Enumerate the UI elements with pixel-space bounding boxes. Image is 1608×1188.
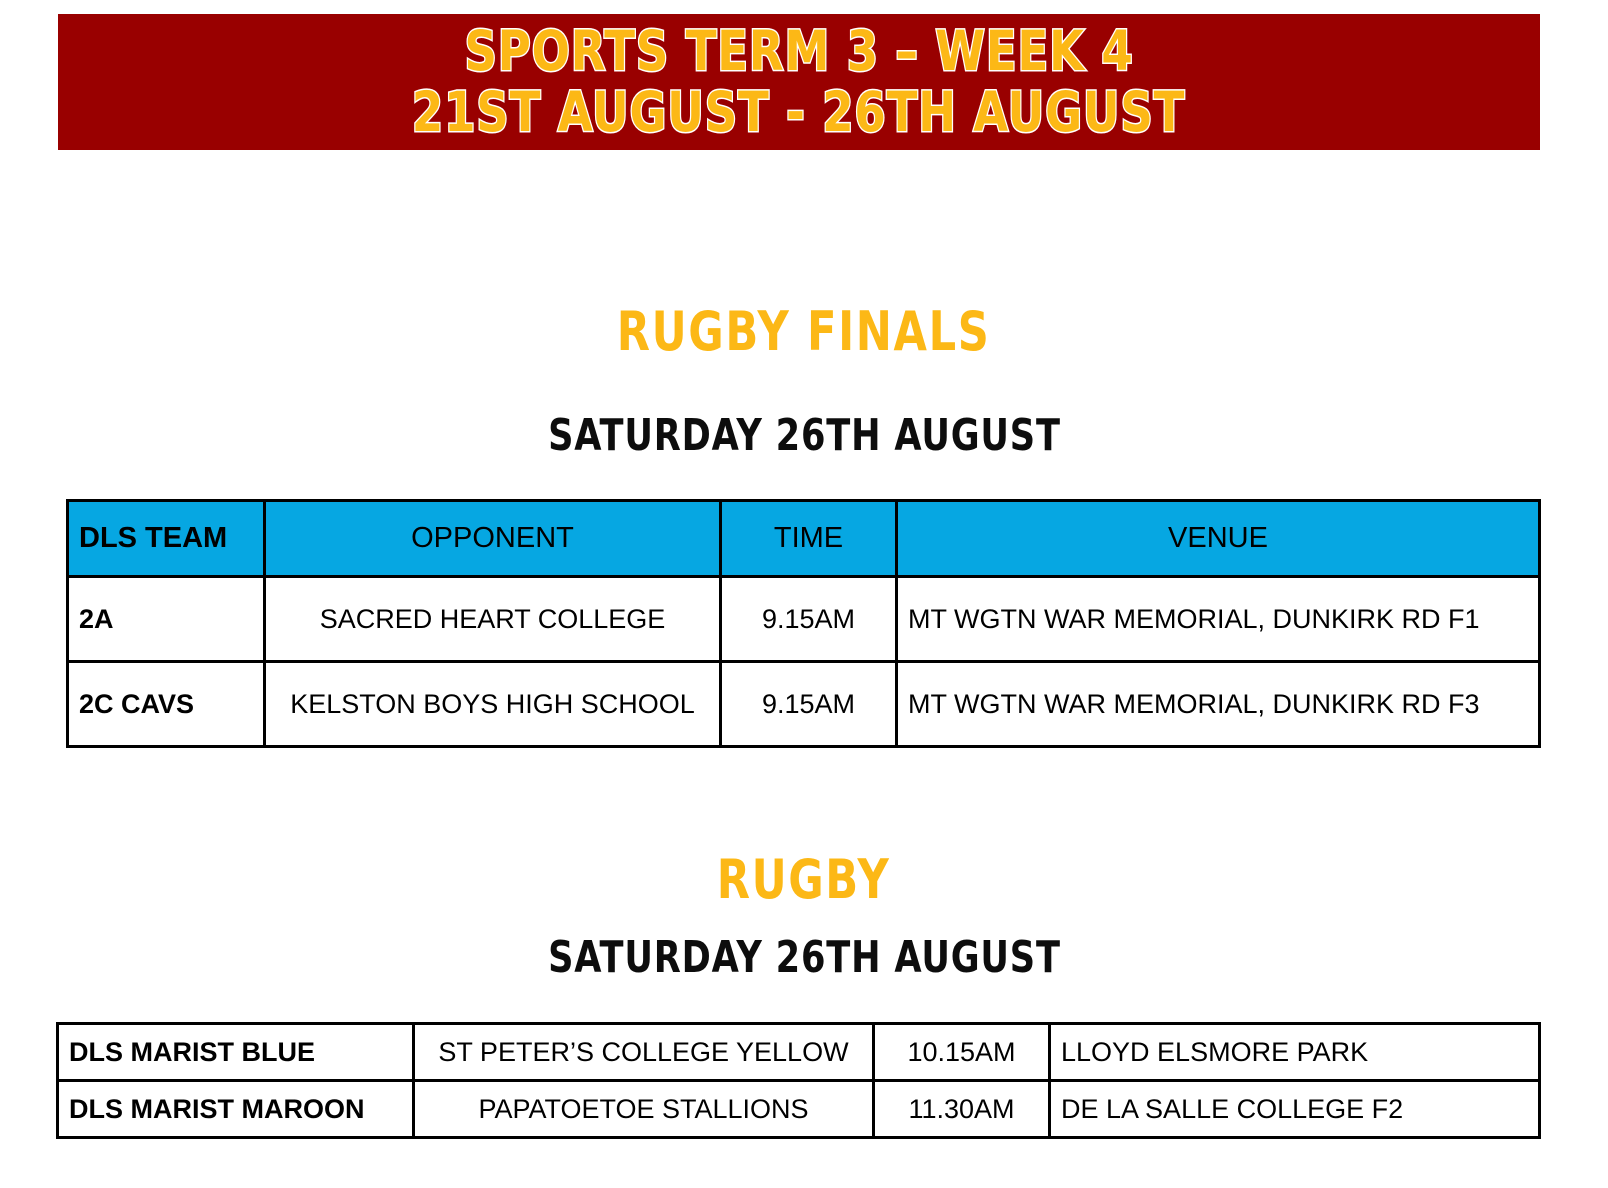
cell-opponent: KELSTON BOYS HIGH SCHOOL <box>265 662 721 747</box>
column-header-opponent: OPPONENT <box>265 501 721 577</box>
section-title-rugby: RUGBY <box>0 848 1608 911</box>
table-header-row: DLS TEAM OPPONENT TIME VENUE <box>68 501 1540 577</box>
cell-dls-team: 2C CAVS <box>68 662 265 747</box>
section-title-rugby-text: RUGBY <box>717 848 891 911</box>
banner-title-line-1: SPORTS TERM 3 – WEEK 4 <box>464 24 1133 79</box>
cell-opponent: PAPATOETOE STALLIONS <box>414 1081 874 1138</box>
table-row: DLS MARIST MAROON PAPATOETOE STALLIONS 1… <box>58 1081 1540 1138</box>
table-row: 2C CAVS KELSTON BOYS HIGH SCHOOL 9.15AM … <box>68 662 1540 747</box>
section-date-rugby-text: SATURDAY 26TH AUGUST <box>548 932 1061 983</box>
column-header-time: TIME <box>721 501 897 577</box>
section-title-rugby-finals-text: RUGBY FINALS <box>617 300 991 363</box>
cell-dls-team: DLS MARIST MAROON <box>58 1081 414 1138</box>
column-header-venue: VENUE <box>897 501 1540 577</box>
cell-venue: MT WGTN WAR MEMORIAL, DUNKIRK RD F1 <box>897 577 1540 662</box>
page-header-banner: SPORTS TERM 3 – WEEK 4 21ST AUGUST - 26T… <box>58 14 1540 150</box>
cell-venue: LLOYD ELSMORE PARK <box>1050 1024 1540 1081</box>
banner-title-line-2: 21ST AUGUST - 26TH AUGUST <box>412 85 1185 140</box>
cell-venue: MT WGTN WAR MEMORIAL, DUNKIRK RD F3 <box>897 662 1540 747</box>
cell-opponent: SACRED HEART COLLEGE <box>265 577 721 662</box>
rugby-finals-schedule-table: DLS TEAM OPPONENT TIME VENUE 2A SACRED H… <box>66 499 1541 748</box>
cell-time: 11.30AM <box>874 1081 1050 1138</box>
cell-opponent: ST PETER’S COLLEGE YELLOW <box>414 1024 874 1081</box>
table-row: 2A SACRED HEART COLLEGE 9.15AM MT WGTN W… <box>68 577 1540 662</box>
section-date-rugby: SATURDAY 26TH AUGUST <box>0 932 1608 983</box>
column-header-dls-team: DLS TEAM <box>68 501 265 577</box>
cell-venue: DE LA SALLE COLLEGE F2 <box>1050 1081 1540 1138</box>
cell-dls-team: DLS MARIST BLUE <box>58 1024 414 1081</box>
table-row: DLS MARIST BLUE ST PETER’S COLLEGE YELLO… <box>58 1024 1540 1081</box>
cell-time: 9.15AM <box>721 662 897 747</box>
section-title-rugby-finals: RUGBY FINALS <box>0 300 1608 363</box>
cell-time: 10.15AM <box>874 1024 1050 1081</box>
section-date-rugby-finals-text: SATURDAY 26TH AUGUST <box>548 410 1061 461</box>
rugby-schedule-table: DLS MARIST BLUE ST PETER’S COLLEGE YELLO… <box>56 1022 1541 1139</box>
section-date-rugby-finals: SATURDAY 26TH AUGUST <box>0 410 1608 461</box>
cell-dls-team: 2A <box>68 577 265 662</box>
cell-time: 9.15AM <box>721 577 897 662</box>
